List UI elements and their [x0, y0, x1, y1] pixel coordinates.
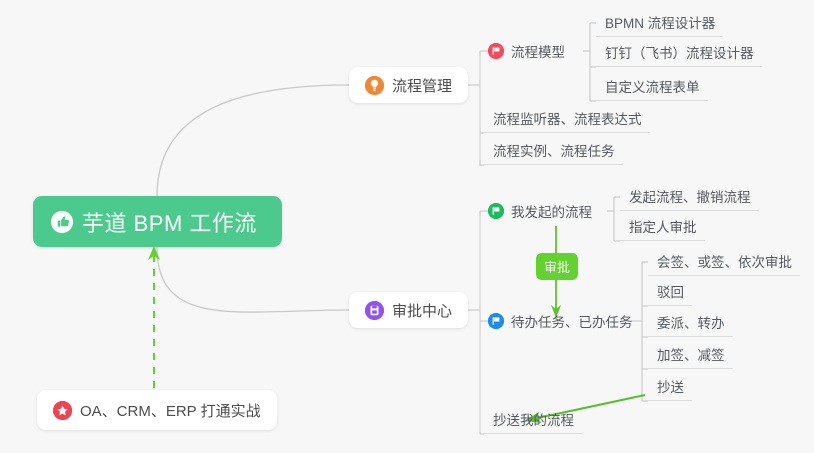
leaf-label: 自定义流程表单 [605, 76, 700, 96]
bottom-node-label: OA、CRM、ERP 打通实战 [80, 400, 261, 421]
node-label: 流程模型 [511, 41, 565, 61]
branch-label: 审批中心 [392, 300, 452, 321]
branch-label: 流程管理 [392, 75, 452, 96]
leaf-label: 流程实例、流程任务 [493, 140, 615, 160]
leaf-node-zidingyi[interactable]: 自定义流程表单 [596, 72, 708, 101]
leaf-label: 驳回 [657, 281, 684, 301]
leaf-node-shili[interactable]: 流程实例、流程任务 [484, 136, 623, 165]
lightbulb-icon [365, 76, 384, 95]
root-label: 芋道 BPM 工作流 [82, 206, 257, 238]
flag-icon [488, 203, 504, 219]
node-liucheng-moxing[interactable]: 流程模型 [488, 36, 565, 66]
leaf-label: 抄送 [657, 376, 684, 396]
leaf-label: 抄送我的流程 [493, 409, 574, 429]
clipboard-icon [365, 301, 384, 320]
leaf-label: 流程监听器、流程表达式 [493, 108, 642, 128]
node-label: 我发起的流程 [511, 201, 592, 221]
root-node[interactable]: 芋道 BPM 工作流 [33, 196, 282, 247]
leaf-node-faqi[interactable]: 发起流程、撤销流程 [620, 182, 759, 211]
branch-node-shenpi-zhongxin[interactable]: 审批中心 [349, 292, 468, 328]
bottom-node[interactable]: OA、CRM、ERP 打通实战 [37, 390, 277, 430]
flag-icon [488, 43, 504, 59]
leaf-node-dingding[interactable]: 钉钉（飞书）流程设计器 [596, 38, 762, 67]
leaf-node-chaosongwode[interactable]: 抄送我的流程 [484, 405, 582, 434]
leaf-node-zhidingren[interactable]: 指定人审批 [620, 212, 705, 241]
leaf-node-bohui[interactable]: 驳回 [648, 277, 692, 306]
leaf-label: 指定人审批 [629, 216, 697, 236]
badge-label: 审批 [544, 257, 570, 276]
star-icon [53, 401, 72, 420]
leaf-label: 加签、减签 [657, 344, 725, 364]
node-wofaqi[interactable]: 我发起的流程 [488, 196, 592, 226]
node-label: 待办任务、已办任务 [511, 311, 633, 331]
leaf-label: 会签、或签、依次审批 [657, 251, 792, 271]
flag-icon [488, 313, 504, 329]
badge-shenpi[interactable]: 审批 [536, 253, 578, 280]
leaf-label: 发起流程、撤销流程 [629, 186, 751, 206]
leaf-label: 钉钉（飞书）流程设计器 [605, 42, 754, 62]
leaf-label: 委派、转办 [657, 312, 725, 332]
thumbs-up-icon [51, 211, 73, 233]
branch-node-liucheng-guanli[interactable]: 流程管理 [349, 67, 468, 103]
leaf-node-jiaqian[interactable]: 加签、减签 [648, 340, 733, 369]
leaf-node-bpmn[interactable]: BPMN 流程设计器 [596, 8, 723, 37]
leaf-node-weipai[interactable]: 委派、转办 [648, 308, 733, 337]
leaf-node-huiqian[interactable]: 会签、或签、依次审批 [648, 247, 800, 276]
node-daiban[interactable]: 待办任务、已办任务 [488, 306, 633, 336]
mindmap-canvas: 芋道 BPM 工作流 流程管理 流程模型 BPMN 流程设计器 钉钉（飞书）流程 [0, 0, 814, 453]
leaf-node-chaosong[interactable]: 抄送 [648, 372, 692, 401]
leaf-label: BPMN 流程设计器 [605, 12, 715, 32]
leaf-node-jiantingqi[interactable]: 流程监听器、流程表达式 [484, 104, 650, 133]
